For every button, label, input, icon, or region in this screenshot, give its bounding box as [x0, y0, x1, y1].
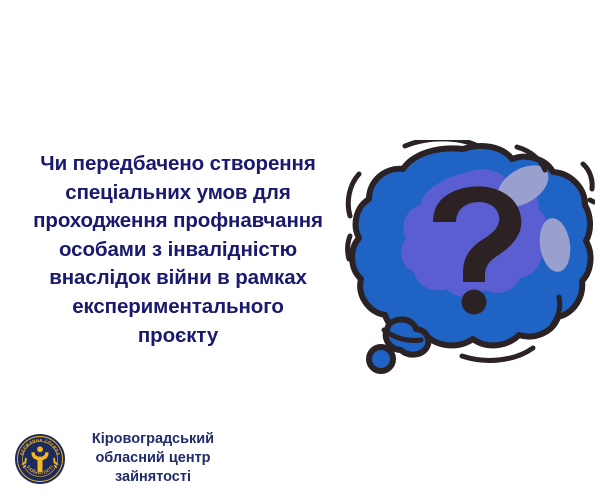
- thought-bubble-illustration: [345, 140, 595, 380]
- footer: ДЕРЖАВНА СЛУЖБА ЗАЙНЯТОСТІ: [0, 408, 600, 502]
- thought-tail-bubbles: [369, 319, 428, 371]
- state-employment-service-logo: ДЕРЖАВНА СЛУЖБА ЗАЙНЯТОСТІ: [14, 433, 66, 485]
- content-band: Чи передбачено створення спеціальних умо…: [0, 0, 600, 408]
- thought-bubble-icon: [345, 140, 595, 380]
- footer-inner: ДЕРЖАВНА СЛУЖБА ЗАЙНЯТОСТІ: [14, 430, 228, 487]
- infographic-card: Чи передбачено створення спеціальних умо…: [0, 0, 600, 502]
- logo-icon: ДЕРЖАВНА СЛУЖБА ЗАЙНЯТОСТІ: [14, 433, 66, 485]
- organization-name: Кіровоградський обласний центр зайнятост…: [78, 430, 228, 487]
- page-title: Чи передбачено створення спеціальних умо…: [6, 150, 350, 350]
